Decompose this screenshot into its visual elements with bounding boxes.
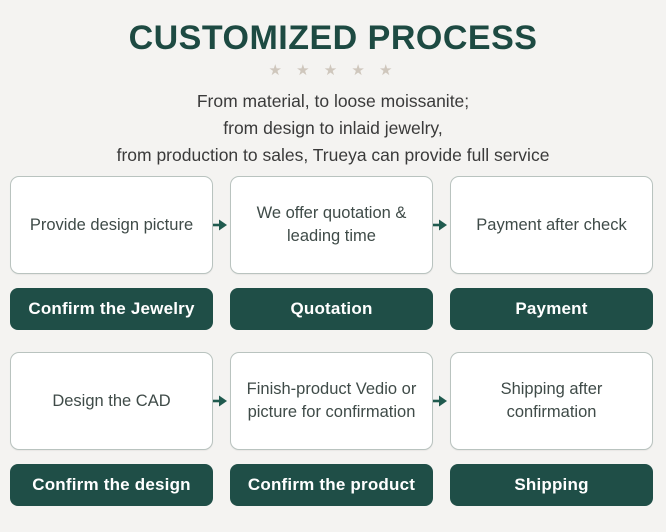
step-label-bar: Shipping xyxy=(450,464,653,506)
process-step-5-label-wrap: Confirm the product xyxy=(230,464,433,506)
page-header: CUSTOMIZED PROCESS ★ ★ ★ ★ ★ xyxy=(0,0,666,80)
step-card: Payment after check xyxy=(450,176,653,274)
arrow-right-icon xyxy=(213,217,229,233)
step-card: Provide design picture xyxy=(10,176,213,274)
process-step-1-label-wrap: Confirm the Jewelry xyxy=(10,288,213,330)
step-card-text: Payment after check xyxy=(476,214,626,237)
step-label-bar: Quotation xyxy=(230,288,433,330)
star-rating-icons: ★ ★ ★ ★ ★ xyxy=(0,62,666,80)
subtitle-line-3: from production to sales, Trueya can pro… xyxy=(0,142,666,169)
process-step-1: Provide design picture xyxy=(10,176,213,274)
process-step-6: Shipping after confirmation xyxy=(450,352,653,450)
process-step-6-label-wrap: Shipping xyxy=(450,464,653,506)
arrow-right-icon xyxy=(433,217,449,233)
process-step-5: Finish-product Vedio or picture for conf… xyxy=(230,352,433,450)
process-row-1-cards: Provide design picture We offer quotatio… xyxy=(0,176,666,280)
arrow-right-icon xyxy=(433,393,449,409)
subtitle-line-2: from design to inlaid jewelry, xyxy=(0,115,666,142)
arrow-right-icon xyxy=(213,393,229,409)
step-card: Shipping after confirmation xyxy=(450,352,653,450)
process-row-1-labels: Confirm the Jewelry Quotation Payment xyxy=(0,288,666,334)
step-label-bar: Confirm the Jewelry xyxy=(10,288,213,330)
step-card: Finish-product Vedio or picture for conf… xyxy=(230,352,433,450)
step-card: Design the CAD xyxy=(10,352,213,450)
process-step-2-label-wrap: Quotation xyxy=(230,288,433,330)
step-card-text: We offer quotation & leading time xyxy=(239,202,424,248)
step-card: We offer quotation & leading time xyxy=(230,176,433,274)
step-label-bar: Payment xyxy=(450,288,653,330)
step-card-text: Shipping after confirmation xyxy=(459,378,644,424)
step-card-text: Provide design picture xyxy=(30,214,193,237)
step-card-text: Finish-product Vedio or picture for conf… xyxy=(239,378,424,424)
subtitle-block: From material, to loose moissanite; from… xyxy=(0,88,666,169)
process-step-2: We offer quotation & leading time xyxy=(230,176,433,274)
process-row-2-cards: Design the CAD Finish-product Vedio or p… xyxy=(0,352,666,456)
process-step-4-label-wrap: Confirm the design xyxy=(10,464,213,506)
process-step-4: Design the CAD xyxy=(10,352,213,450)
subtitle-line-1: From material, to loose moissanite; xyxy=(0,88,666,115)
process-row-2-labels: Confirm the design Confirm the product S… xyxy=(0,464,666,510)
step-card-text: Design the CAD xyxy=(52,390,170,413)
step-label-bar: Confirm the design xyxy=(10,464,213,506)
process-step-3-label-wrap: Payment xyxy=(450,288,653,330)
process-flow: Provide design picture We offer quotatio… xyxy=(0,176,666,510)
process-step-3: Payment after check xyxy=(450,176,653,274)
page-title: CUSTOMIZED PROCESS xyxy=(0,18,666,58)
step-label-bar: Confirm the product xyxy=(230,464,433,506)
